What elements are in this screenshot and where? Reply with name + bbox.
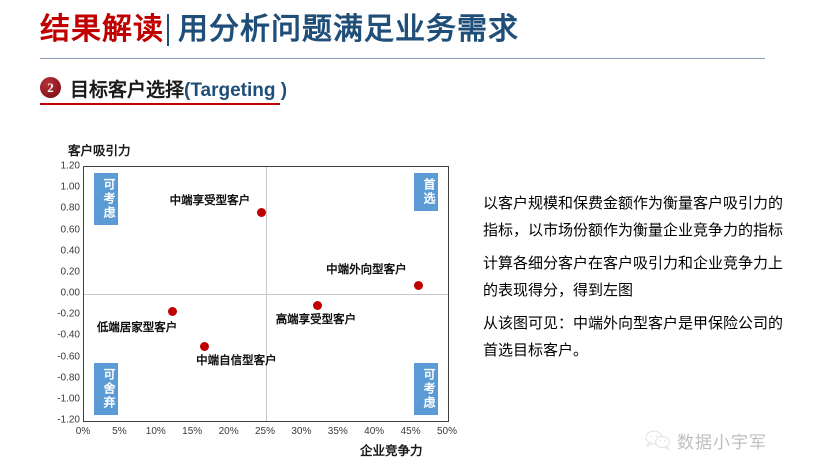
quadrant-tag-bottom-right: 可考虑 [414, 363, 438, 415]
y-axis-tick: -0.40 [40, 330, 80, 341]
watermark-text: 数据小宇军 [677, 428, 767, 453]
y-axis-tick: -0.20 [40, 309, 80, 320]
quadrant-tag-top-right: 首选 [414, 173, 438, 211]
y-axis-tick: 0.40 [40, 245, 80, 256]
targeting-scatter-chart: 客户吸引力 1.201.000.800.600.400.200.00-0.20-… [20, 118, 468, 458]
x-axis-tick: 25% [245, 426, 285, 437]
x-axis-tick: 35% [318, 426, 358, 437]
page-title-secondary: 用分析问题满足业务需求 [178, 13, 519, 47]
x-axis-tick: 15% [172, 426, 212, 437]
data-point-label: 中端享受型客户 [170, 195, 251, 208]
y-axis-tick: -1.20 [40, 415, 80, 426]
commentary-panel: 以客户规模和保费金额作为衡量客户吸引力的指标，以市场份额作为衡量企业竞争力的指标… [483, 190, 793, 370]
wechat-icon [645, 429, 671, 451]
x-axis-tick: 45% [391, 426, 431, 437]
y-axis-tick-labels: 1.201.000.800.600.400.200.00-0.20-0.40-0… [35, 166, 80, 422]
commentary-paragraph: 计算各细分客户在客户吸引力和企业竞争力上的表现得分，得到左图 [483, 250, 793, 304]
slide-header: 结果解读 用分析问题满足业务需求 [0, 0, 815, 62]
y-axis-tick: -1.00 [40, 393, 80, 404]
x-axis-title: 企业竞争力 [360, 440, 423, 459]
data-point[interactable] [313, 301, 322, 310]
data-point-label: 高端享受型客户 [276, 314, 357, 327]
x-axis-tick: 0% [63, 426, 103, 437]
title-divider [167, 14, 169, 46]
data-point[interactable] [257, 208, 266, 217]
commentary-paragraph: 从该图可见：中端外向型客户是甲保险公司的首选目标客户。 [483, 310, 793, 364]
y-axis-tick: -0.60 [40, 351, 80, 362]
data-point[interactable] [200, 342, 209, 351]
quadrant-tag-bottom-left: 可舍弃 [94, 363, 118, 415]
quadrant-tag-top-left: 可考虑 [94, 173, 118, 225]
commentary-paragraph: 以客户规模和保费金额作为衡量客户吸引力的指标，以市场份额作为衡量企业竞争力的指标 [483, 190, 793, 244]
y-axis-tick: 0.60 [40, 224, 80, 235]
plot-area: 可考虑 首选 可舍弃 可考虑 中端享受型客户中端外向型客户高端享受型客户低端居家… [83, 166, 449, 422]
x-axis-tick: 10% [136, 426, 176, 437]
data-point-label: 低端居家型客户 [97, 322, 178, 335]
section-title-en: (Targeting ) [184, 80, 287, 101]
header-rule [40, 58, 765, 59]
y-axis-tick: -0.80 [40, 372, 80, 383]
x-axis-tick: 20% [209, 426, 249, 437]
quadrant-gridline-vertical [266, 167, 267, 421]
x-axis-tick: 30% [281, 426, 321, 437]
data-point[interactable] [168, 307, 177, 316]
watermark: 数据小宇军 [645, 425, 805, 457]
y-axis-tick: 1.20 [40, 161, 80, 172]
data-point-label: 中端外向型客户 [326, 264, 407, 277]
y-axis-title: 客户吸引力 [68, 140, 131, 159]
data-point-label: 中端自信型客户 [196, 355, 277, 368]
x-axis-tick: 40% [354, 426, 394, 437]
x-axis-tick: 5% [99, 426, 139, 437]
section-underline [40, 103, 280, 105]
data-point[interactable] [414, 281, 423, 290]
section-title: 目标客户选择(Targeting ) [70, 75, 287, 102]
y-axis-tick: 0.20 [40, 266, 80, 277]
section-title-cn: 目标客户选择 [70, 80, 184, 101]
x-axis-tick: 50% [427, 426, 467, 437]
y-axis-tick: 0.00 [40, 288, 80, 299]
y-axis-tick: 0.80 [40, 203, 80, 214]
page-title-primary: 结果解读 [40, 13, 164, 47]
section-number-badge: 2 [40, 77, 61, 98]
y-axis-tick: 1.00 [40, 182, 80, 193]
